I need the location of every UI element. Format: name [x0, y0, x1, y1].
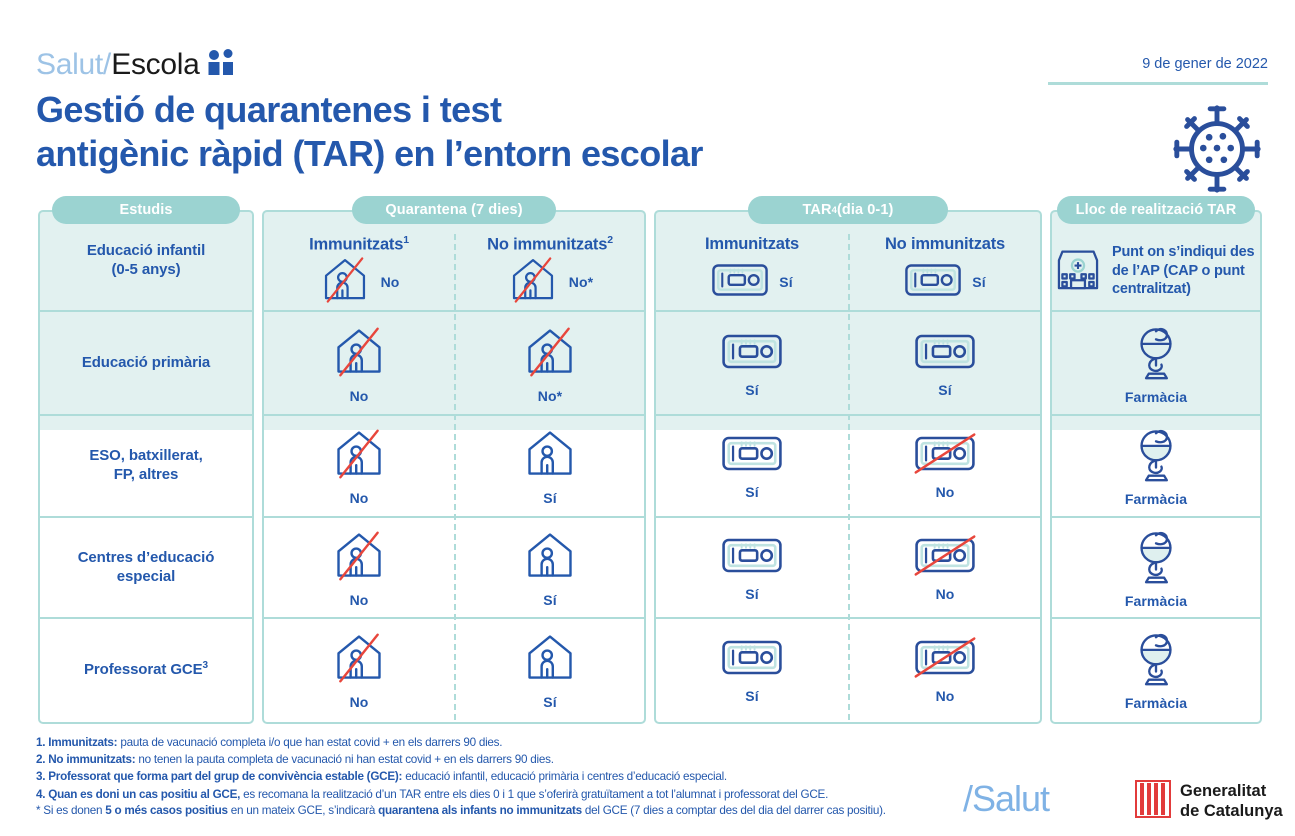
study-label-1: Educació primària [40, 354, 252, 373]
tar-column-divider [848, 234, 850, 720]
subheader-quar-imm-sup: 1 [403, 234, 409, 246]
footnote-asterisk-b1: 5 o més casos positius [105, 804, 227, 817]
lloc-label-3: Farmàcia [1125, 593, 1187, 609]
catalunya-shield-icon [1135, 780, 1171, 823]
cell-quar-imm-2: No [264, 422, 454, 510]
verdict-tar-noimm-3: No [936, 586, 955, 602]
table-row-study-3: Centres d’educació especial [40, 518, 252, 617]
house-person-crossed-icon [331, 529, 387, 588]
house-person-crossed-icon [331, 427, 387, 486]
cell-quar-imm-3: No [264, 524, 454, 612]
footnote-2-text: no tenen la pauta completa de vacunació … [135, 753, 553, 766]
study-label-0: Educació infantil [87, 242, 205, 259]
footnote-4: 4. Quan es doni un cas positiu al GCE, e… [36, 786, 966, 803]
subheader-tar-imm-label: Immunitzats [705, 235, 799, 254]
cell-tar-noimm-3: No [850, 524, 1040, 612]
brand-escola-text: Escola [111, 48, 199, 82]
cell-lloc-3: Farmàcia [1052, 524, 1260, 612]
rapid-test-icon [721, 636, 783, 684]
verdict-quar-imm-2: No [350, 490, 369, 506]
cell-lloc-0: Punt on s’indiqui des de l’AP (CAP o pun… [1052, 232, 1260, 310]
generalitat-line1: Generalitat [1180, 782, 1266, 800]
verdict-quar-noimm-1: No* [538, 388, 562, 404]
bottom-bar [0, 831, 1295, 836]
footnote-asterisk-p3: del GCE (7 dies a comptar des del dia de… [582, 804, 886, 817]
pharmacy-icon [1132, 630, 1180, 691]
generalitat-line2: de Catalunya [1180, 802, 1283, 820]
house-person-crossed-icon [522, 325, 578, 384]
page-title-line1: Gestió de quarantenes i test [36, 89, 501, 130]
house-person-crossed-icon [319, 255, 371, 310]
cell-lloc-4: Farmàcia [1052, 626, 1260, 714]
footnotes: 1. Immunitzats: pauta de vacunació compl… [36, 734, 966, 803]
cell-quar-noimm-2: Sí [456, 422, 644, 510]
house-person-crossed-icon [507, 255, 559, 310]
cell-tar-imm-3: Sí [656, 524, 848, 612]
group-header-tar-label: TAR [803, 202, 832, 218]
verdict-tar-imm-3: Sí [745, 586, 758, 602]
rapid-test-icon [721, 534, 783, 582]
pharmacy-icon [1132, 426, 1180, 487]
cell-tar-noimm-0: Sí [850, 254, 1040, 310]
group-header-quarantena: Quarantena (7 dies) [352, 196, 556, 224]
header-divider [1048, 82, 1268, 85]
cell-quar-noimm-0: No* [456, 254, 644, 310]
cell-lloc-1: Farmàcia [1052, 320, 1260, 408]
cell-quar-imm-1: No [264, 320, 454, 408]
footnote-asterisk-p2: en un mateix GCE, s’indicarà [228, 804, 378, 817]
footer-salut-logo: /Salut [963, 778, 1049, 820]
subheader-tar-noimm-label: No immunitzats [885, 235, 1005, 254]
cell-quar-noimm-3: Sí [456, 524, 644, 612]
verdict-tar-noimm-0: Sí [972, 274, 985, 290]
two-people-icon [206, 49, 236, 82]
lloc-label-2: Farmàcia [1125, 491, 1187, 507]
footnote-2-label: 2. No immunitzats: [36, 753, 135, 766]
row-separator-2 [40, 414, 252, 416]
brand-logo: Salut/Escola [36, 48, 236, 82]
footnote-1-label: 1. Immunitzats: [36, 736, 117, 749]
brand-salut-text: Salut [36, 48, 103, 82]
footnote-3-label: 3. Professorat que forma part del grup d… [36, 770, 402, 783]
house-person-icon [522, 631, 578, 690]
cell-quar-noimm-4: Sí [456, 626, 644, 714]
footnote-asterisk-p1: * Si es donen [36, 804, 105, 817]
study-label-3b: especial [117, 568, 175, 585]
cell-quar-imm-4: No [264, 626, 454, 714]
cell-tar-noimm-1: Sí [850, 320, 1040, 408]
footnote-1: 1. Immunitzats: pauta de vacunació compl… [36, 734, 966, 751]
house-person-crossed-icon [331, 631, 387, 690]
row-separator-3d [1052, 516, 1260, 518]
rapid-test-icon [721, 432, 783, 480]
verdict-tar-noimm-4: No [936, 688, 955, 704]
footnote-asterisk-b2: quarantena als infants no immunitzats [378, 804, 582, 817]
subheader-quar-no-immunitzats: No immunitzats2 [456, 232, 644, 256]
verdict-quar-noimm-4: Sí [543, 694, 556, 710]
study-label-3: Centres d’educació [78, 549, 215, 566]
footnote-1-text: pauta de vacunació completa i/o que han … [117, 736, 502, 749]
study-label-4: Professorat GCE [84, 661, 203, 678]
rapid-test-crossed-icon [914, 534, 976, 582]
verdict-quar-imm-3: No [350, 592, 369, 608]
row-separator-1d [1052, 310, 1260, 312]
footnote-3: 3. Professorat que forma part del grup d… [36, 768, 966, 785]
pharmacy-icon [1132, 528, 1180, 589]
footnote-asterisk: * Si es donen 5 o més casos positius en … [36, 804, 886, 817]
footnote-3-text: educació infantil, educació primària i c… [402, 770, 727, 783]
row-separator-3 [40, 516, 252, 518]
rapid-test-icon [904, 260, 962, 305]
verdict-tar-imm-0: Sí [779, 274, 792, 290]
group-header-tar: TAR4 (dia 0-1) [748, 196, 948, 224]
cell-quar-imm-0: No [264, 254, 454, 310]
cell-tar-noimm-4: No [850, 626, 1040, 714]
verdict-quar-noimm-0: No* [569, 274, 593, 290]
verdict-tar-noimm-1: Sí [938, 382, 951, 398]
brand-slash: / [103, 48, 111, 82]
page-title: Gestió de quarantenes i test antigènic r… [36, 88, 703, 176]
coronavirus-icon [1168, 100, 1266, 203]
verdict-tar-imm-1: Sí [745, 382, 758, 398]
subheader-quar-noimm-label: No immunitzats [487, 235, 607, 253]
verdict-tar-noimm-2: No [936, 484, 955, 500]
house-person-crossed-icon [331, 325, 387, 384]
lloc-label-1: Farmàcia [1125, 389, 1187, 405]
publication-date: 9 de gener de 2022 [1142, 56, 1268, 72]
table-row-study-0: Educació infantil (0-5 anys) [40, 212, 252, 310]
comparison-table: Estudis Quarantena (7 dies) TAR4 (dia 0-… [0, 196, 1295, 724]
row-separator-4d [1052, 617, 1260, 619]
row-separator-4 [40, 617, 252, 619]
table-row-study-1: Educació primària [40, 312, 252, 414]
table-row-study-4: Professorat GCE3 [40, 619, 252, 720]
page-title-line2: antigènic ràpid (TAR) en l’entorn escola… [36, 132, 703, 176]
pharmacy-icon [1132, 324, 1180, 385]
subheader-tar-no-immunitzats: No immunitzats [850, 232, 1040, 256]
footnote-4-text: es recomana la realització d’un TAR entr… [240, 788, 828, 801]
rapid-test-icon [914, 330, 976, 378]
rapid-test-crossed-icon [914, 432, 976, 480]
rapid-test-crossed-icon [914, 636, 976, 684]
group-header-tar-suffix: (dia 0-1) [837, 202, 894, 218]
verdict-quar-imm-4: No [350, 694, 369, 710]
group-header-lloc: Lloc de realització TAR [1057, 196, 1255, 224]
footnote-2: 2. No immunitzats: no tenen la pauta com… [36, 751, 966, 768]
row-separator-2d [1052, 414, 1260, 416]
cell-tar-imm-2: Sí [656, 422, 848, 510]
verdict-quar-imm-1: No [350, 388, 369, 404]
cell-tar-imm-0: Sí [656, 254, 848, 310]
generalitat-logo: Generalitat de Catalunya [1135, 780, 1283, 823]
rapid-test-icon [721, 330, 783, 378]
quar-column-divider [454, 234, 456, 720]
study-label-2: ESO, batxillerat, [89, 447, 202, 464]
row-separator-1 [40, 310, 252, 312]
study-label-4-sup: 3 [203, 660, 208, 671]
subheader-quar-imm-label: Immunitzats [309, 235, 403, 253]
verdict-quar-imm-0: No [381, 274, 400, 290]
subheader-quar-immunitzats: Immunitzats1 [264, 232, 454, 256]
cell-tar-imm-1: Sí [656, 320, 848, 408]
verdict-tar-imm-4: Sí [745, 688, 758, 704]
verdict-quar-noimm-3: Sí [543, 592, 556, 608]
table-row-study-2: ESO, batxillerat, FP, altres [40, 416, 252, 516]
hospital-icon [1052, 243, 1104, 300]
verdict-quar-noimm-2: Sí [543, 490, 556, 506]
infographic-page: Salut/Escola Gestió de quarantenes i tes… [0, 0, 1295, 836]
cell-lloc-2: Farmàcia [1052, 422, 1260, 510]
cell-tar-noimm-2: No [850, 422, 1040, 510]
house-person-icon [522, 427, 578, 486]
study-label-2b: FP, altres [114, 466, 179, 483]
study-label-0b: (0-5 anys) [111, 261, 180, 278]
cell-tar-imm-4: Sí [656, 626, 848, 714]
cell-quar-noimm-1: No* [456, 320, 644, 408]
footnote-4-label: 4. Quan es doni un cas positiu al GCE, [36, 788, 240, 801]
group-header-estudis: Estudis [52, 196, 240, 224]
lloc-label-0: Punt on s’indiqui des de l’AP (CAP o pun… [1112, 243, 1260, 300]
lloc-label-4: Farmàcia [1125, 695, 1187, 711]
rapid-test-icon [711, 260, 769, 305]
verdict-tar-imm-2: Sí [745, 484, 758, 500]
house-person-icon [522, 529, 578, 588]
subheader-quar-noimm-sup: 2 [607, 234, 613, 246]
subheader-tar-immunitzats: Immunitzats [656, 232, 848, 256]
